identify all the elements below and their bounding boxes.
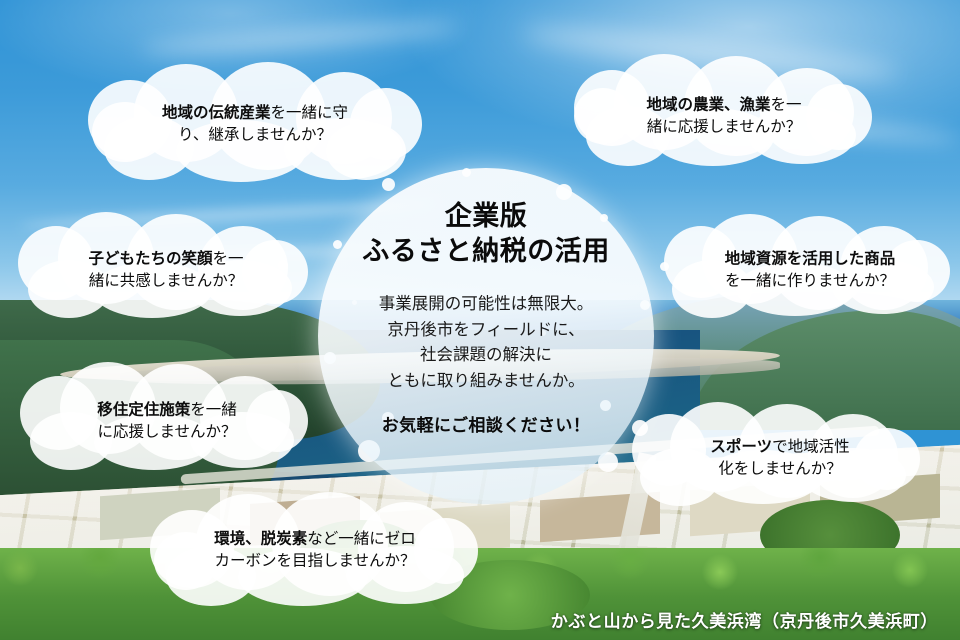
bubble-text: スポーツで地域活性化をしませんか？ xyxy=(632,436,928,481)
bubble-line-1-rest: を一 xyxy=(771,96,802,114)
bubble-line-1-rest: を一緒に守 xyxy=(271,104,349,122)
main-body-line1: 事業展開の可能性は無限大。 xyxy=(379,291,594,317)
bubble-text: 環境、脱炭素など一緒にゼロカーボンを目指しませんか？ xyxy=(150,528,480,573)
thought-bubble-zero-carbon: 環境、脱炭素など一緒にゼロカーボンを目指しませんか？ xyxy=(150,492,480,608)
bubble-line-1-rest: を一緒 xyxy=(190,401,237,419)
photo-caption: かぶと山から見た久美浜湾（京丹後市久美浜町） xyxy=(551,607,938,632)
bubble-text: 地域の農業、漁業を一緒に応援しませんか？ xyxy=(574,94,874,139)
bubble-line-2: 緒に応援しませんか？ xyxy=(586,116,862,138)
contact-cta: お気軽にご相談ください！ xyxy=(382,411,590,436)
thought-bubble-migration-settlement: 移住定住施策を一緒に応援しませんか？ xyxy=(20,362,314,480)
thought-bubble-local-resources-product: 地域資源を活用した商品を一緒に作りませんか？ xyxy=(664,214,956,326)
thought-bubble-children-smiles: 子どもたちの笑顔を一緒に共感しませんか？ xyxy=(18,212,314,328)
main-title-line2: ふるさと納税の活用 xyxy=(362,235,610,270)
main-body-line4: ともに取り組みませんか。 xyxy=(379,368,594,394)
bubble-line-2: 化をしませんか？ xyxy=(644,458,916,480)
bubble-line-2: を一緒に作りませんか？ xyxy=(676,270,944,292)
bubble-line-2: り、継承しませんか？ xyxy=(100,124,410,146)
bubble-keyword: 地域の伝統産業 xyxy=(162,104,271,122)
poster-canvas: 企業版 ふるさと納税の活用 事業展開の可能性は無限大。 京丹後市をフィールドに、… xyxy=(0,0,960,640)
bubble-line-1-rest: を一 xyxy=(213,250,244,268)
main-title: 企業版 ふるさと納税の活用 xyxy=(362,200,610,269)
bubble-keyword: スポーツ xyxy=(710,438,772,456)
main-message-circle: 企業版 ふるさと納税の活用 事業展開の可能性は無限大。 京丹後市をフィールドに、… xyxy=(318,168,654,504)
bubble-keyword: 子どもたちの笑顔 xyxy=(88,250,212,268)
main-body-line3: 社会課題の解決に xyxy=(379,342,594,368)
bubble-line-1: 地域資源を活用した商品 xyxy=(676,248,944,270)
bubble-line-2: 緒に共感しませんか？ xyxy=(30,270,302,292)
bubble-text: 地域の伝統産業を一緒に守り、継承しませんか？ xyxy=(88,102,422,147)
bubble-line-1-rest: など一緒にゼロ xyxy=(307,530,416,548)
bubble-keyword: 移住定住施策 xyxy=(97,401,190,419)
thought-dot xyxy=(333,240,342,249)
bubble-line-1: 子どもたちの笑顔を一 xyxy=(30,248,302,270)
bubble-keyword: 地域資源を活用した商品 xyxy=(725,250,896,268)
bubble-line-2: に応援しませんか？ xyxy=(32,421,302,443)
main-body: 事業展開の可能性は無限大。 京丹後市をフィールドに、 社会課題の解決に ともに取… xyxy=(379,291,594,393)
bubble-line-1: 地域の伝統産業を一緒に守 xyxy=(100,102,410,124)
thought-bubble-sports: スポーツで地域活性化をしませんか？ xyxy=(632,402,928,514)
bubble-line-1-rest: で地域活性 xyxy=(772,438,850,456)
bubble-line-1: スポーツで地域活性 xyxy=(644,436,916,458)
bubble-text: 地域資源を活用した商品を一緒に作りませんか？ xyxy=(664,248,956,293)
bubble-line-1: 移住定住施策を一緒 xyxy=(32,399,302,421)
bubble-keyword: 地域の農業、漁業 xyxy=(646,96,770,114)
bubble-keyword: 環境、脱炭素 xyxy=(214,530,307,548)
thought-bubble-traditional-industry: 地域の伝統産業を一緒に守り、継承しませんか？ xyxy=(88,62,422,186)
bubble-text: 子どもたちの笑顔を一緒に共感しませんか？ xyxy=(18,248,314,293)
thought-bubble-agriculture-fishery: 地域の農業、漁業を一緒に応援しませんか？ xyxy=(574,54,874,178)
bubble-text: 移住定住施策を一緒に応援しませんか？ xyxy=(20,399,314,444)
bubble-line-2: カーボンを目指しませんか？ xyxy=(162,550,468,572)
bubble-line-1: 環境、脱炭素など一緒にゼロ xyxy=(162,528,468,550)
bubble-line-1: 地域の農業、漁業を一 xyxy=(586,94,862,116)
main-body-line2: 京丹後市をフィールドに、 xyxy=(379,317,594,343)
main-title-line1: 企業版 xyxy=(362,200,610,235)
